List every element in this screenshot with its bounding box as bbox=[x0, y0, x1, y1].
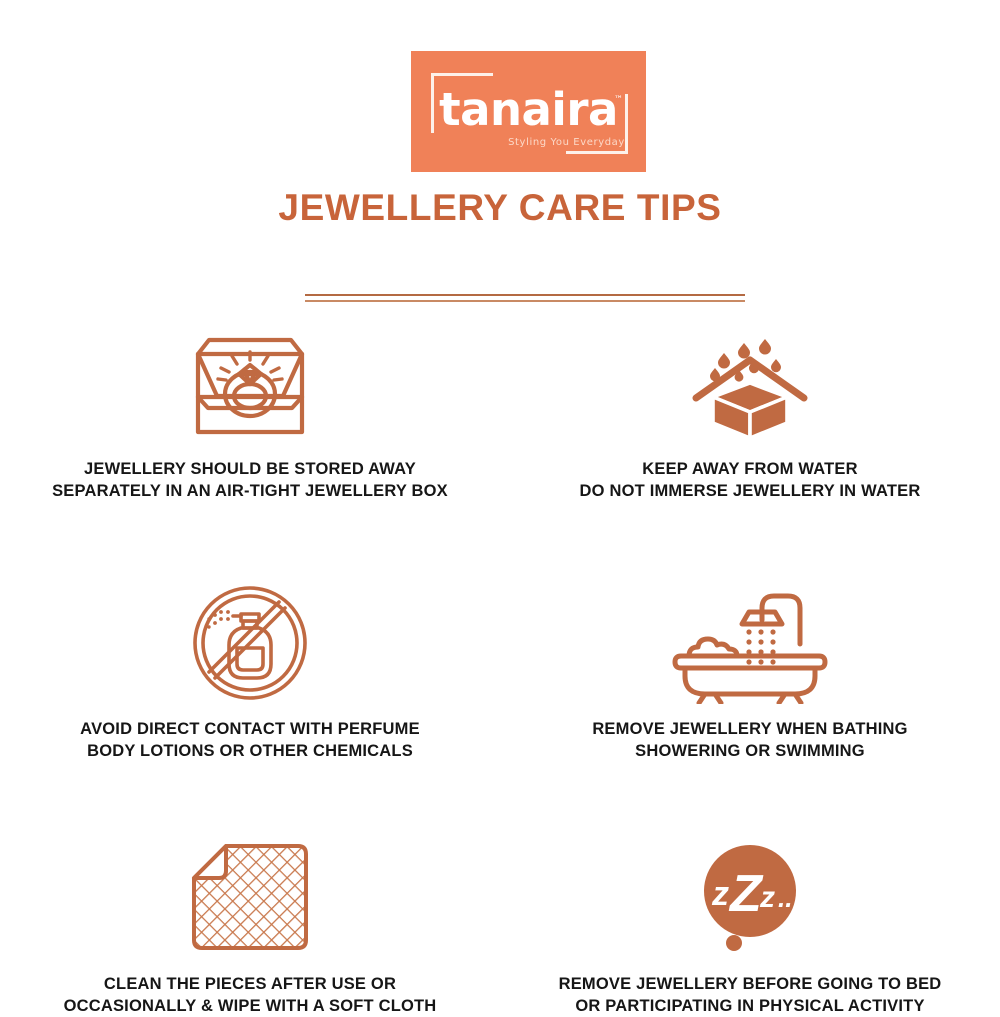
row-spacer bbox=[0, 502, 1000, 582]
bathtub-shower-icon bbox=[669, 582, 831, 704]
tip-item: z Z z .. REMOVE JEWELLERY BEFORE GOING T… bbox=[500, 837, 1000, 1017]
tips-row: JEWELLERY SHOULD BE STORED AWAY SEPARATE… bbox=[0, 322, 1000, 502]
tip-item: KEEP AWAY FROM WATER DO NOT IMMERSE JEWE… bbox=[500, 322, 1000, 502]
no-perfume-icon bbox=[188, 582, 312, 704]
brand-name: tanaira bbox=[411, 87, 646, 132]
title-divider bbox=[305, 294, 745, 303]
tip-item: REMOVE JEWELLERY WHEN BATHING SHOWERING … bbox=[500, 582, 1000, 762]
tip-item: CLEAN THE PIECES AFTER USE OR OCCASIONAL… bbox=[0, 837, 500, 1017]
tips-grid: JEWELLERY SHOULD BE STORED AWAY SEPARATE… bbox=[0, 322, 1000, 1017]
svg-text:Z: Z bbox=[728, 865, 764, 923]
tips-row: AVOID DIRECT CONTACT WITH PERFUME BODY L… bbox=[0, 582, 1000, 762]
trademark-symbol: ™ bbox=[614, 95, 623, 105]
tip-item: JEWELLERY SHOULD BE STORED AWAY SEPARATE… bbox=[0, 322, 500, 502]
tip-item: AVOID DIRECT CONTACT WITH PERFUME BODY L… bbox=[0, 582, 500, 762]
tip-text: CLEAN THE PIECES AFTER USE OR OCCASIONAL… bbox=[64, 973, 437, 1017]
row-spacer bbox=[0, 762, 1000, 837]
box-under-roof-rain-icon bbox=[684, 322, 816, 444]
divider-line-bottom bbox=[305, 300, 745, 302]
tip-text: REMOVE JEWELLERY BEFORE GOING TO BED OR … bbox=[559, 973, 942, 1017]
svg-text:..: .. bbox=[778, 883, 792, 913]
tip-text: JEWELLERY SHOULD BE STORED AWAY SEPARATE… bbox=[52, 458, 448, 502]
tip-text: REMOVE JEWELLERY WHEN BATHING SHOWERING … bbox=[592, 718, 907, 762]
brand-logo: tanaira ™ Styling You Everyday bbox=[411, 51, 646, 172]
divider-line-top bbox=[305, 294, 745, 296]
tips-row: CLEAN THE PIECES AFTER USE OR OCCASIONAL… bbox=[0, 837, 1000, 1017]
soft-cloth-icon bbox=[186, 837, 314, 959]
sleep-zzz-bubble-icon: z Z z .. bbox=[686, 837, 814, 959]
page-title: JEWELLERY CARE TIPS bbox=[0, 186, 1000, 230]
svg-text:z: z bbox=[711, 875, 729, 913]
ring-in-jewellery-box-icon bbox=[184, 322, 316, 444]
svg-text:z: z bbox=[759, 881, 775, 914]
tip-text: KEEP AWAY FROM WATER DO NOT IMMERSE JEWE… bbox=[580, 458, 921, 502]
tip-text: AVOID DIRECT CONTACT WITH PERFUME BODY L… bbox=[80, 718, 420, 762]
brand-tagline: Styling You Everyday bbox=[411, 137, 632, 148]
